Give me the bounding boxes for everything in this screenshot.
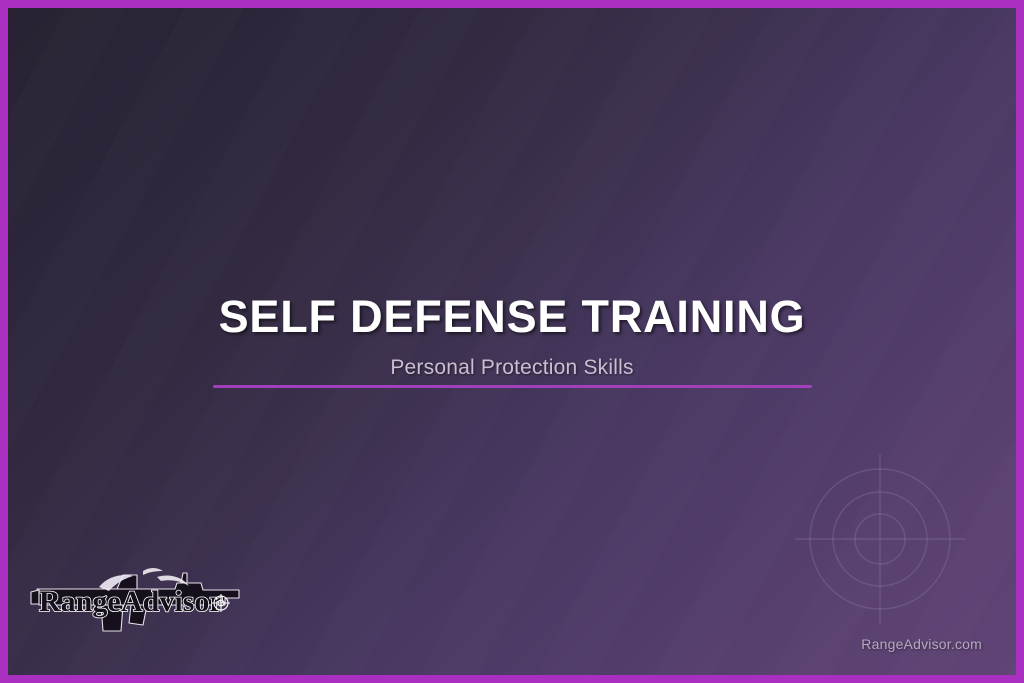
logo-wordmark: Range Advisor xyxy=(39,585,223,618)
page-title: SELF DEFENSE TRAINING xyxy=(8,294,1016,339)
title-block: SELF DEFENSE TRAINING Personal Protectio… xyxy=(8,294,1016,380)
slide-canvas: SELF DEFENSE TRAINING Personal Protectio… xyxy=(8,8,1016,675)
logo-text-secondary: Advisor xyxy=(121,585,223,618)
page-subtitle: Personal Protection Skills xyxy=(8,356,1016,380)
slide-frame: SELF DEFENSE TRAINING Personal Protectio… xyxy=(0,0,1024,683)
title-divider xyxy=(213,385,812,388)
logo-text-primary: Range xyxy=(39,585,121,618)
website-url: RangeAdvisor.com xyxy=(861,636,982,652)
crosshair-target-icon xyxy=(795,454,965,624)
brand-logo: Range Advisor xyxy=(25,559,261,645)
